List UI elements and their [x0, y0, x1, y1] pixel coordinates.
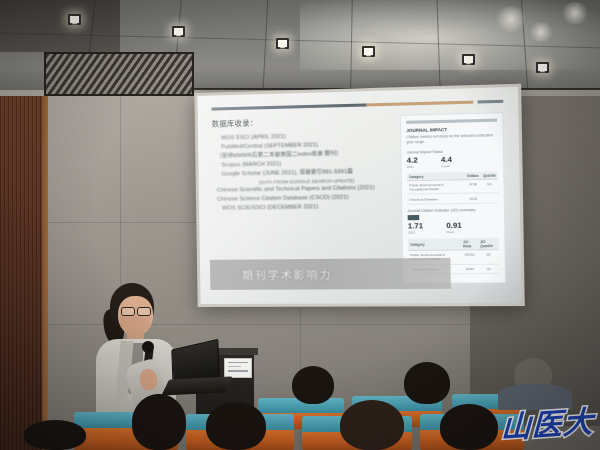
audience-head — [132, 394, 186, 450]
cell-quartile — [481, 193, 498, 203]
audience-head — [206, 402, 266, 450]
ceiling-seam — [261, 0, 269, 96]
ceiling-downlight — [276, 38, 289, 49]
kpi-value: 4.4 — [441, 155, 452, 163]
slide-banner-title: 期刊学术影响力 — [242, 266, 333, 282]
ceiling-glow — [494, 6, 528, 32]
column-header: JCI Rank — [461, 238, 478, 250]
cell-rank: 22/94 — [461, 264, 478, 274]
kpi-value: 0.91 — [446, 221, 462, 229]
ceiling-light-bloom — [300, 0, 600, 70]
ceiling-downlight — [536, 62, 549, 73]
ceiling-downlight — [68, 14, 81, 25]
cell-quartile: Q1 — [478, 264, 499, 274]
impact-factor-label: Journal Impact Factor — [407, 148, 498, 154]
card-topbar — [406, 119, 497, 124]
cell-category: Infectious Diseases — [407, 194, 465, 205]
wood-wall-column — [0, 96, 42, 450]
kpi-caption: Rank — [446, 230, 462, 234]
presentation-slide: 数据库收录： WOS ESCI (APRIL 2021) PubMed/Cent… — [197, 87, 521, 304]
table-row: Public, Environmental & Occupational Hea… — [407, 179, 498, 194]
microphone-head — [142, 341, 154, 353]
lecture-hall-photo: 数据库收录： WOS ESCI (APRIL 2021) PubMed/Cent… — [0, 0, 600, 450]
wood-column-edge — [42, 96, 48, 450]
ceiling-glow — [560, 2, 590, 24]
cell-category: Public, Environmental & Occupational Hea… — [407, 180, 465, 195]
jci-summary-label: Journal Citation Indicator (JCI) summary — [408, 207, 499, 212]
ceiling-downlight — [172, 26, 185, 37]
table-row: Infectious Diseases SCIE — [407, 193, 498, 204]
ceiling-glow — [528, 22, 554, 42]
column-header: JCI Quartile — [478, 238, 499, 250]
card-title: JOURNAL IMPACT — [406, 126, 497, 133]
kpi-block: 1.71 2021 — [408, 222, 424, 235]
card-subtitle: Citation metrics summary for the selecte… — [406, 133, 497, 146]
ceiling-downlight — [462, 54, 475, 65]
audience-head — [24, 420, 86, 450]
table-header-row: Category JCI Rank JCI Quartile — [408, 238, 499, 251]
cell-rank: 34/201 — [461, 250, 478, 264]
kpi-value: 1.71 — [408, 222, 423, 230]
kpi-caption: 5 year — [441, 164, 452, 168]
kpi-block: 0.91 Rank — [446, 221, 462, 234]
rule-segment-tan — [366, 101, 473, 106]
placard-line — [228, 366, 241, 368]
cell-quartile: Q1 — [478, 250, 499, 264]
ceiling-dark-recess — [0, 0, 120, 52]
rule-segment-gray — [478, 100, 504, 103]
presenter-glasses — [120, 307, 152, 315]
audience-head — [440, 404, 498, 450]
jci-kpis: 1.71 2021 0.91 Rank — [408, 221, 499, 235]
kpi-block: 4.2 2021 — [407, 156, 418, 169]
slide-heading: 数据库收录： — [212, 115, 394, 130]
jci-badge-row — [408, 214, 499, 220]
audience-head — [340, 400, 404, 450]
placard-line — [228, 362, 248, 364]
impact-factor-kpis: 4.2 2021 4.4 5 year — [407, 154, 498, 169]
projection-screen-surface: 数据库收录： WOS ESCI (APRIL 2021) PubMed/Cent… — [197, 87, 521, 304]
kpi-block: 4.4 5 year — [441, 155, 452, 168]
slide-banner: 期刊学术影响力 — [210, 258, 451, 290]
jci-badge — [408, 215, 420, 220]
cell-quartile: Q1 — [481, 179, 498, 193]
audience-head — [404, 362, 450, 404]
placard-line — [228, 370, 248, 372]
impact-factor-table: Category Edition Quartile Public, Enviro… — [407, 171, 498, 204]
name-placard — [224, 358, 252, 378]
column-header: Category — [408, 238, 461, 250]
cell-edition: SCIE — [465, 179, 481, 193]
projection-screen: 数据库收录： WOS ESCI (APRIL 2021) PubMed/Cent… — [194, 84, 524, 307]
slide-line: WOS SCIE/SSCI (DECEMBER 2021) — [213, 202, 395, 214]
audience-head — [292, 366, 334, 404]
kpi-caption: 2021 — [408, 231, 423, 235]
watermark-logo: 山医大 — [500, 397, 594, 448]
slide-divider-rule — [212, 100, 504, 111]
kpi-caption: 2021 — [407, 165, 418, 169]
cell-edition: SCIE — [465, 193, 481, 203]
rule-segment-dark — [212, 104, 367, 111]
kpi-value: 4.2 — [407, 156, 418, 164]
ceiling-downlight — [362, 46, 375, 57]
acoustic-grille — [44, 52, 194, 96]
